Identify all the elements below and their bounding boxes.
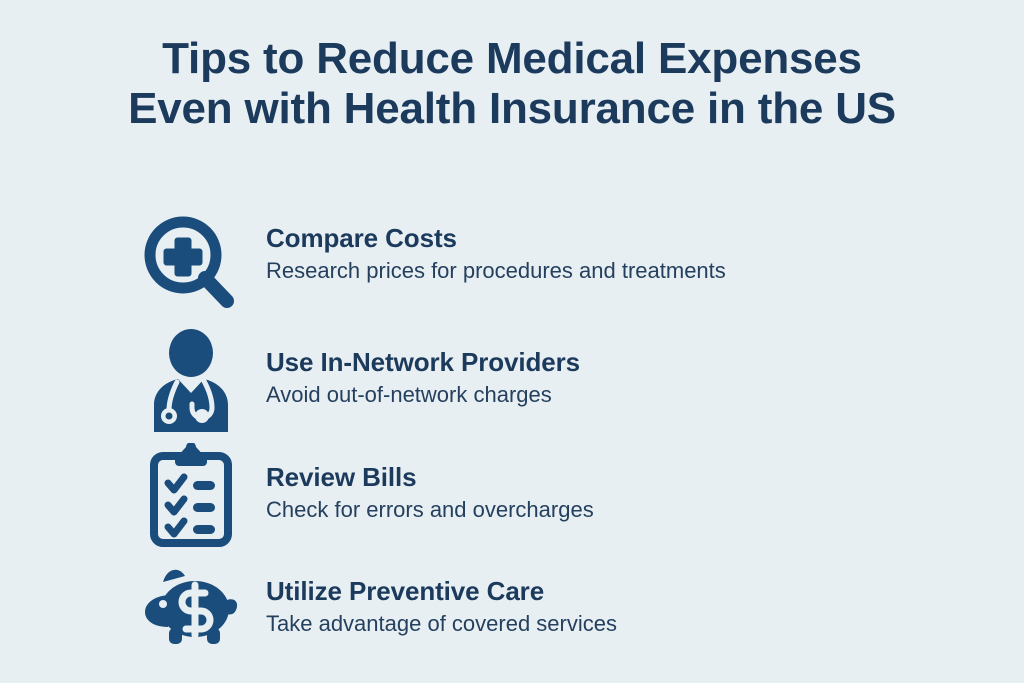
tip-description: Avoid out-of-network charges <box>266 380 580 410</box>
list-item: Review Bills Check for errors and overch… <box>132 443 892 558</box>
tip-text-block: Use In-Network Providers Avoid out-of-ne… <box>250 328 580 410</box>
tip-title: Compare Costs <box>266 222 726 254</box>
tip-text-block: Utilize Preventive Care Take advantage o… <box>250 558 617 639</box>
page-title: Tips to Reduce Medical Expenses Even wit… <box>110 34 914 134</box>
tip-text-block: Review Bills Check for errors and overch… <box>250 443 594 525</box>
magnifier-medical-cross-icon <box>132 213 250 317</box>
tip-description: Research prices for procedures and treat… <box>266 256 726 286</box>
list-item: Utilize Preventive Care Take advantage o… <box>132 558 892 673</box>
title-block: Tips to Reduce Medical Expenses Even wit… <box>0 34 1024 134</box>
tip-title: Utilize Preventive Care <box>266 575 617 607</box>
infographic-poster: Tips to Reduce Medical Expenses Even wit… <box>0 0 1024 683</box>
doctor-stethoscope-icon <box>132 328 250 432</box>
tip-description: Take advantage of covered services <box>266 609 617 639</box>
tip-text-block: Compare Costs Research prices for proced… <box>250 213 726 286</box>
tip-title: Use In-Network Providers <box>266 346 580 378</box>
piggy-bank-dollar-icon <box>132 558 250 662</box>
clipboard-checklist-icon <box>132 443 250 547</box>
list-item: Compare Costs Research prices for proced… <box>132 213 892 328</box>
tip-description: Check for errors and overcharges <box>266 495 594 525</box>
list-item: Use In-Network Providers Avoid out-of-ne… <box>132 328 892 443</box>
tip-title: Review Bills <box>266 461 594 493</box>
tips-list: Compare Costs Research prices for proced… <box>132 213 892 673</box>
